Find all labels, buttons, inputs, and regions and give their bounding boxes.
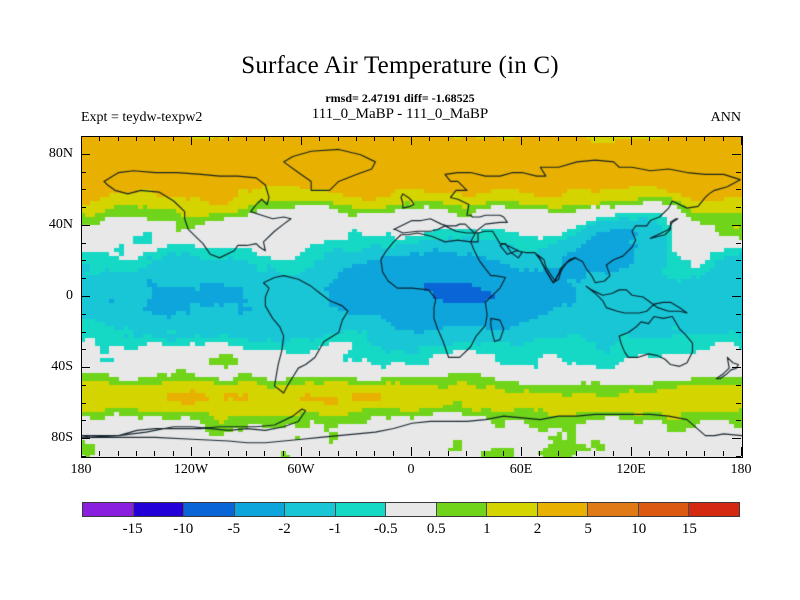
y-axis-tick [732, 367, 741, 368]
y-axis-label: 80N [49, 146, 73, 162]
y-axis-tick [732, 154, 741, 155]
y-axis-tick [732, 296, 741, 297]
x-axis-tick [686, 136, 687, 141]
colorbar-tick-label: 2 [534, 521, 542, 538]
x-axis-tick [411, 447, 412, 456]
x-axis-tick [686, 451, 687, 456]
x-axis-tick [338, 451, 339, 456]
x-axis-tick [668, 136, 669, 141]
x-axis-tick [631, 447, 632, 456]
x-axis-tick [209, 451, 210, 456]
colorbar-segment [235, 503, 286, 516]
y-axis-tick [732, 225, 741, 226]
x-axis-tick [99, 136, 100, 141]
x-axis-tick [649, 136, 650, 141]
x-axis-label: 0 [408, 462, 415, 478]
colorbar-tick-label: -5 [228, 521, 241, 538]
x-axis-tick [411, 136, 412, 145]
x-axis-label: 120W [174, 462, 208, 478]
x-axis-tick [283, 136, 284, 141]
colorbar-tick-label: -15 [123, 521, 143, 538]
x-axis-label: 120E [616, 462, 646, 478]
x-axis-tick [429, 136, 430, 141]
x-axis-tick [448, 136, 449, 141]
y-axis-tick [81, 189, 86, 190]
figure-root: Surface Air Temperature (in C) rmsd= 2.4… [0, 0, 800, 600]
x-axis-tick [521, 447, 522, 456]
x-axis-tick [521, 136, 522, 145]
x-axis-tick [741, 447, 742, 456]
x-axis-tick [99, 451, 100, 456]
y-axis-tick [736, 314, 741, 315]
season-label: ANN [711, 110, 741, 126]
x-axis-tick [631, 136, 632, 145]
x-axis-tick [173, 136, 174, 141]
y-axis-tick [81, 243, 86, 244]
y-axis-tick [81, 332, 86, 333]
x-axis-tick [246, 136, 247, 141]
x-axis-tick [484, 451, 485, 456]
x-axis-tick [338, 136, 339, 141]
x-axis-tick [154, 136, 155, 141]
colorbar-tick-label: -2 [278, 521, 291, 538]
y-axis-tick [81, 154, 90, 155]
colorbar-segment [336, 503, 387, 516]
x-axis-tick [484, 136, 485, 141]
colorbar-segment [184, 503, 235, 516]
x-axis-tick [503, 451, 504, 456]
y-axis-tick [736, 260, 741, 261]
y-axis-tick [81, 260, 86, 261]
y-axis-tick [732, 438, 741, 439]
y-axis-tick [81, 296, 90, 297]
x-axis-tick [723, 451, 724, 456]
x-axis-tick [448, 451, 449, 456]
x-axis-tick [246, 451, 247, 456]
colorbar-tick-label: 5 [584, 521, 592, 538]
x-axis-tick [154, 451, 155, 456]
colorbar-tick-label: -10 [173, 521, 193, 538]
y-axis-tick [81, 367, 90, 368]
colorbar-segment [487, 503, 538, 516]
x-axis-tick [429, 451, 430, 456]
x-axis-tick [228, 451, 229, 456]
y-axis-tick [81, 456, 86, 457]
temperature-anomaly-map [82, 137, 742, 457]
colorbar-segment [639, 503, 690, 516]
x-axis-tick [374, 451, 375, 456]
colorbar-tick-label: -0.5 [374, 521, 398, 538]
x-axis-tick [301, 447, 302, 456]
x-axis-tick [594, 451, 595, 456]
y-axis-label: 80S [51, 430, 73, 446]
colorbar [82, 502, 740, 517]
x-axis-tick [356, 136, 357, 141]
x-axis-tick [704, 451, 705, 456]
y-axis-label: 0 [66, 288, 73, 304]
page-title: Surface Air Temperature (in C) [0, 52, 800, 80]
x-axis-tick [136, 451, 137, 456]
x-axis-tick [191, 136, 192, 145]
y-axis-tick [736, 456, 741, 457]
x-axis-tick [558, 136, 559, 141]
y-axis-tick [81, 172, 86, 173]
x-axis-tick [649, 451, 650, 456]
x-axis-tick [374, 136, 375, 141]
x-axis-tick [558, 451, 559, 456]
x-axis-tick [576, 136, 577, 141]
x-axis-tick [466, 451, 467, 456]
y-axis-tick [736, 349, 741, 350]
colorbar-segment [538, 503, 589, 516]
colorbar-segment [386, 503, 437, 516]
colorbar-segment [285, 503, 336, 516]
x-axis-label: 180 [731, 462, 752, 478]
colorbar-segment [689, 503, 739, 516]
x-axis-label: 60W [287, 462, 314, 478]
x-axis-tick [173, 451, 174, 456]
y-axis-tick [736, 332, 741, 333]
experiment-label: Expt = teydw-texpw2 [81, 110, 202, 126]
x-axis-tick [503, 136, 504, 141]
x-axis-tick [356, 451, 357, 456]
x-axis-tick [668, 451, 669, 456]
y-axis-tick [736, 420, 741, 421]
y-axis-tick [736, 385, 741, 386]
x-axis-tick [613, 451, 614, 456]
y-axis-tick [736, 189, 741, 190]
y-axis-tick [736, 136, 741, 137]
rmsd-annotation: rmsd= 2.47191 diff= -1.68525 [0, 91, 800, 106]
colorbar-tick-label: 15 [682, 521, 697, 538]
y-axis-tick [81, 225, 90, 226]
x-axis-tick [191, 447, 192, 456]
colorbar-segment [588, 503, 639, 516]
x-axis-tick [576, 451, 577, 456]
x-axis-label: 60E [510, 462, 533, 478]
y-axis-tick [81, 420, 86, 421]
y-axis-tick [736, 207, 741, 208]
y-axis-tick [81, 385, 86, 386]
x-axis-tick [264, 136, 265, 141]
x-axis-tick [81, 136, 82, 145]
colorbar-segment [83, 503, 134, 516]
x-axis-tick [723, 136, 724, 141]
x-axis-tick [283, 451, 284, 456]
colorbar-tick-label: -1 [329, 521, 342, 538]
x-axis-tick [209, 136, 210, 141]
colorbar-tick-label: 0.5 [427, 521, 446, 538]
y-axis-label: 40N [49, 217, 73, 233]
x-axis-tick [118, 451, 119, 456]
x-axis-tick [228, 136, 229, 141]
colorbar-segment [437, 503, 488, 516]
y-axis-tick [81, 349, 86, 350]
y-axis-tick [81, 136, 86, 137]
x-axis-tick [704, 136, 705, 141]
map-plot-frame [81, 136, 743, 458]
x-axis-tick [393, 451, 394, 456]
x-axis-tick [118, 136, 119, 141]
y-axis-tick [81, 207, 86, 208]
y-axis-tick [736, 403, 741, 404]
x-axis-tick [741, 136, 742, 145]
colorbar-segment [134, 503, 185, 516]
y-axis-tick [81, 403, 86, 404]
x-axis-tick [136, 136, 137, 141]
x-axis-label: 180 [71, 462, 92, 478]
x-axis-tick [594, 136, 595, 141]
colorbar-tick-label: 1 [483, 521, 491, 538]
y-axis-tick [81, 314, 86, 315]
x-axis-tick [264, 451, 265, 456]
x-axis-tick [319, 136, 320, 141]
y-axis-label: 40S [51, 359, 73, 375]
x-axis-tick [539, 451, 540, 456]
x-axis-tick [301, 136, 302, 145]
x-axis-tick [393, 136, 394, 141]
x-axis-tick [81, 447, 82, 456]
y-axis-tick [81, 278, 86, 279]
y-axis-tick [736, 243, 741, 244]
y-axis-tick [736, 278, 741, 279]
y-axis-tick [81, 438, 90, 439]
colorbar-tick-label: 10 [631, 521, 646, 538]
x-axis-tick [466, 136, 467, 141]
x-axis-tick [613, 136, 614, 141]
x-axis-tick [319, 451, 320, 456]
x-axis-tick [539, 136, 540, 141]
y-axis-tick [736, 172, 741, 173]
